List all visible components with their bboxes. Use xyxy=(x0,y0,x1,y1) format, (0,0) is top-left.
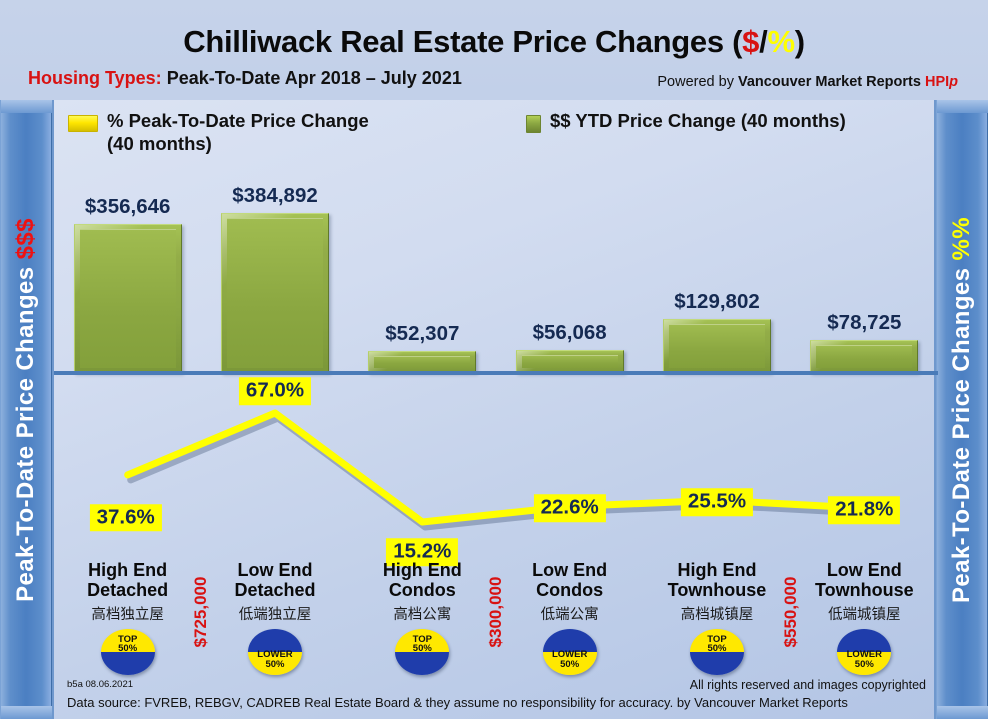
bar-6[interactable] xyxy=(810,340,918,373)
category-label-en: Low EndDetached xyxy=(201,560,348,601)
left-axis-rail: Peak-To-Date Price Changes $$$ xyxy=(0,100,52,719)
percent-point-label[interactable]: 25.5% xyxy=(681,489,753,517)
bar-column: $52,307 xyxy=(368,166,476,373)
percent-point-label[interactable]: 37.6% xyxy=(90,504,162,532)
bar-value-label: $129,802 xyxy=(674,290,760,314)
page-title: Chilliwack Real Estate Price Changes ($/… xyxy=(0,24,988,60)
percent-line-svg xyxy=(54,375,938,575)
legend-swatch-percent-icon xyxy=(68,115,98,132)
category-label-group: High EndDetached高档独立屋TOP50% xyxy=(54,560,201,675)
bar-3[interactable] xyxy=(368,351,476,373)
bar-value-label: $52,307 xyxy=(385,322,459,346)
bar-1[interactable] xyxy=(74,224,182,373)
right-axis-symbol: %% xyxy=(948,217,975,260)
subtitle-label: Housing Types: xyxy=(28,68,162,88)
category-label-cn: 低端公寓 xyxy=(496,603,643,624)
rail-cap-top xyxy=(1,100,53,113)
badge-text: TOP50% xyxy=(690,635,744,654)
percent-point-label[interactable]: 22.6% xyxy=(534,495,606,523)
category-label-cn: 低端城镇屋 xyxy=(791,603,938,624)
tier-divider-price: $550,000 xyxy=(781,568,801,656)
category-label-cn: 高档城镇屋 xyxy=(643,603,790,624)
category-label-group: Low EndDetached低端独立屋LOWER50% xyxy=(201,560,348,675)
bar-column: $384,892 xyxy=(221,166,329,373)
category-label-group: High EndCondos高档公寓TOP50% xyxy=(349,560,496,675)
badge-half-top xyxy=(837,629,891,652)
chart-legend: % Peak-To-Date Price Change (40 months) … xyxy=(54,100,938,166)
tier-badge-low50: LOWER50% xyxy=(837,629,891,675)
rail-cap-top xyxy=(937,100,988,113)
footer-id: b5a 08.06.2021 xyxy=(67,679,133,690)
badge-half-top xyxy=(543,629,597,652)
hpi-text: HPI xyxy=(925,74,949,90)
percent-point-label[interactable]: 67.0% xyxy=(239,377,311,405)
legend-label-dollar: $$ YTD Price Change (40 months) xyxy=(550,110,846,133)
tier-divider-price: $300,000 xyxy=(486,568,506,656)
tier-badge-top50: TOP50% xyxy=(395,629,449,675)
hpi-logo-text: HPIp xyxy=(925,74,958,90)
legend-item-dollar[interactable]: $$ YTD Price Change (40 months) xyxy=(526,110,846,133)
left-axis-text: Peak-To-Date Price Changes xyxy=(12,259,39,601)
category-label-en: High EndTownhouse xyxy=(643,560,790,601)
tier-badge-low50: LOWER50% xyxy=(248,629,302,675)
right-axis-label: Peak-To-Date Price Changes %% xyxy=(948,217,976,603)
category-label-group: Low EndCondos低端公寓LOWER50% xyxy=(496,560,643,675)
hpi-italic-p: p xyxy=(949,74,958,90)
badge-half-bottom xyxy=(690,652,744,675)
badge-half-bottom xyxy=(101,652,155,675)
bar-value-label: $356,646 xyxy=(85,195,171,219)
percent-point-label[interactable]: 21.8% xyxy=(828,496,900,524)
chart-footer: b5a 08.06.2021 All rights reserved and i… xyxy=(54,677,938,719)
category-label-group: High EndTownhouse高档城镇屋TOP50% xyxy=(643,560,790,675)
bar-value-label: $56,068 xyxy=(533,321,607,345)
category-label-cn: 高档独立屋 xyxy=(54,603,201,624)
title-dollar-symbol: $ xyxy=(742,24,759,59)
right-axis-rail: Peak-To-Date Price Changes %% xyxy=(936,100,988,719)
bar-4[interactable] xyxy=(516,350,624,373)
badge-text: TOP50% xyxy=(101,635,155,654)
category-label-en: Low EndCondos xyxy=(496,560,643,601)
category-label-en: High EndDetached xyxy=(54,560,201,601)
bar-column: $56,068 xyxy=(516,166,624,373)
left-axis-label: Peak-To-Date Price Changes $$$ xyxy=(12,218,40,602)
badge-text: TOP50% xyxy=(395,635,449,654)
footer-rights: All rights reserved and images copyright… xyxy=(690,678,926,692)
title-text: Chilliwack Real Estate Price Changes ( xyxy=(183,24,742,59)
bar-5[interactable] xyxy=(663,319,771,373)
tier-badge-low50: LOWER50% xyxy=(543,629,597,675)
powered-by-credit: Powered by Vancouver Market Reports HPIp xyxy=(657,74,958,90)
bar-value-label: $78,725 xyxy=(827,311,901,335)
footer-source: Data source: FVREB, REBGV, CADREB Real E… xyxy=(67,695,848,710)
subtitle-range: Peak-To-Date Apr 2018 – July 2021 xyxy=(162,68,462,88)
chart-panel: % Peak-To-Date Price Change (40 months) … xyxy=(52,100,936,719)
powered-prefix: Powered by xyxy=(657,74,738,90)
legend-item-percent[interactable]: % Peak-To-Date Price Change (40 months) xyxy=(68,110,398,155)
badge-text: LOWER50% xyxy=(543,650,597,669)
tier-badge-top50: TOP50% xyxy=(101,629,155,675)
bar-column: $78,725 xyxy=(810,166,918,373)
category-label-group: Low EndTownhouse低端城镇屋LOWER50% xyxy=(791,560,938,675)
left-axis-symbol: $$$ xyxy=(12,218,39,259)
category-label-cn: 高档公寓 xyxy=(349,603,496,624)
powered-brand: Vancouver Market Reports xyxy=(738,74,925,90)
subtitle: Housing Types: Peak-To-Date Apr 2018 – J… xyxy=(28,68,462,89)
category-label-en: High EndCondos xyxy=(349,560,496,601)
category-label-cn: 低端独立屋 xyxy=(201,603,348,624)
line-series-area: 37.6%67.0%15.2%22.6%25.5%21.8% xyxy=(54,375,938,575)
legend-swatch-dollar-icon xyxy=(526,115,541,133)
rail-cap-bottom xyxy=(1,706,53,719)
bar-value-label: $384,892 xyxy=(232,184,318,208)
title-percent-symbol: % xyxy=(767,24,794,59)
badge-half-top xyxy=(248,629,302,652)
bar-series-area: $356,646$384,892$52,307$56,068$129,802$7… xyxy=(54,166,938,373)
bar-2[interactable] xyxy=(221,213,329,373)
bar-column: $356,646 xyxy=(74,166,182,373)
tier-badge-top50: TOP50% xyxy=(690,629,744,675)
right-axis-text: Peak-To-Date Price Changes xyxy=(948,260,975,602)
title-close-paren: ) xyxy=(795,24,805,59)
category-axis: High EndDetached高档独立屋TOP50%Low EndDetach… xyxy=(54,560,938,680)
badge-text: LOWER50% xyxy=(248,650,302,669)
chart-header: Chilliwack Real Estate Price Changes ($/… xyxy=(0,0,988,100)
rail-cap-bottom xyxy=(937,706,988,719)
badge-text: LOWER50% xyxy=(837,650,891,669)
legend-label-percent: % Peak-To-Date Price Change (40 months) xyxy=(107,110,398,155)
bar-column: $129,802 xyxy=(663,166,771,373)
category-label-en: Low EndTownhouse xyxy=(791,560,938,601)
tier-divider-price: $725,000 xyxy=(191,568,211,656)
badge-half-bottom xyxy=(395,652,449,675)
